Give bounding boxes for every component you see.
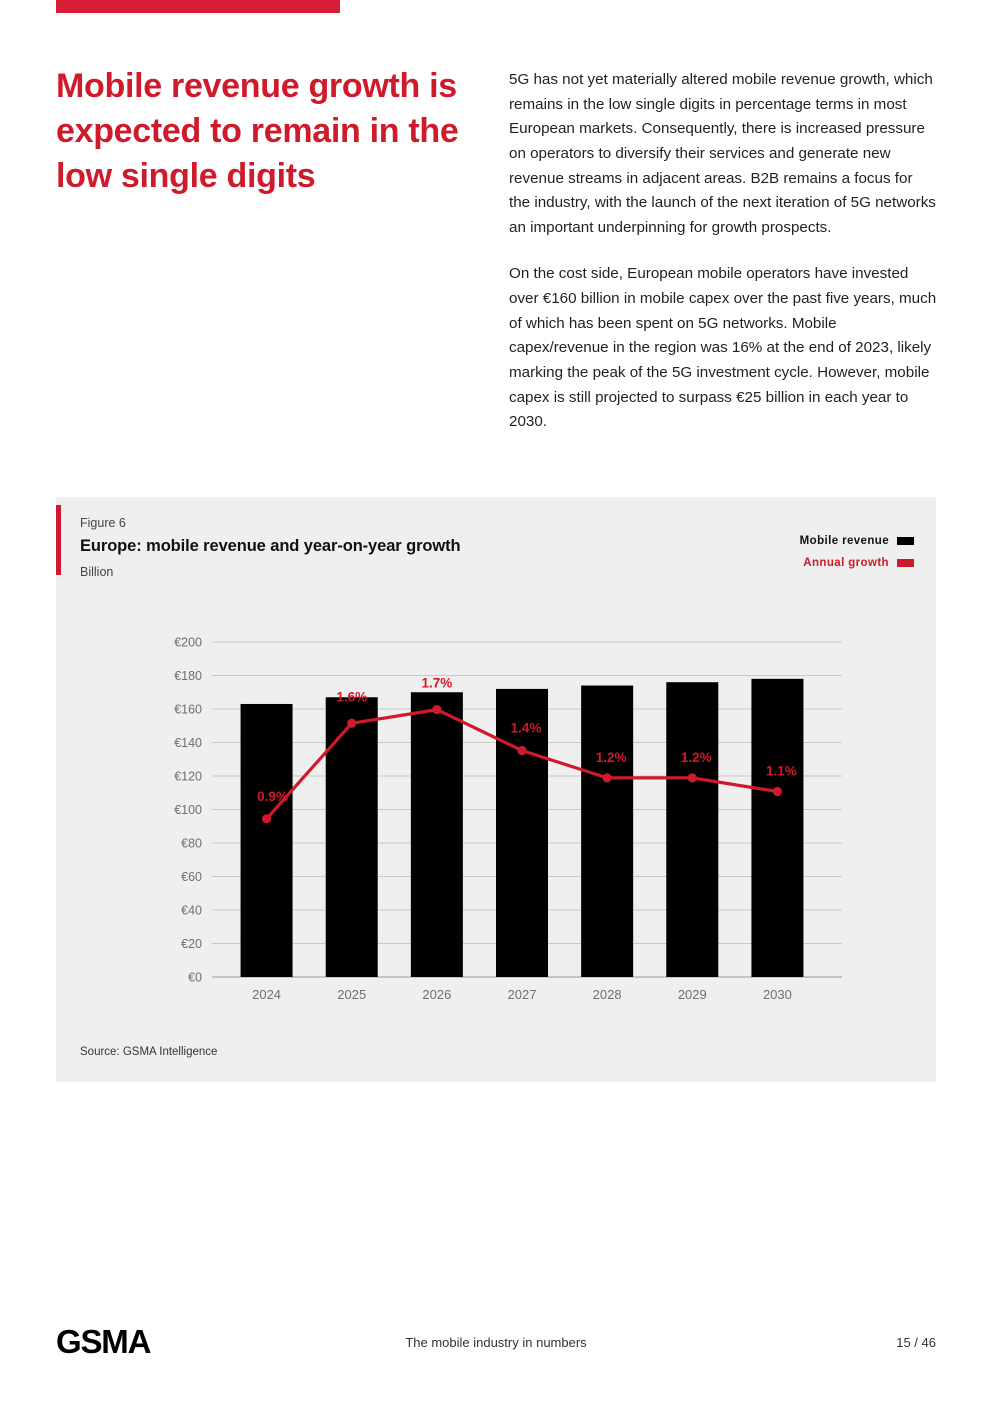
svg-text:2024: 2024 [252,987,281,1002]
svg-text:€20: €20 [181,937,202,951]
svg-text:2030: 2030 [763,987,792,1002]
body-paragraph-1: 5G has not yet materially altered mobile… [509,68,937,240]
svg-text:€0: €0 [188,971,202,985]
svg-text:1.2%: 1.2% [596,750,627,765]
svg-text:2029: 2029 [678,987,707,1002]
svg-text:1.6%: 1.6% [336,689,367,704]
svg-text:€160: €160 [174,703,202,717]
page-footer: GSMA The mobile industry in numbers 15 /… [0,1323,992,1363]
svg-text:2026: 2026 [422,987,451,1002]
footer-page-number: 15 / 46 [896,1335,936,1350]
top-accent-rule [56,0,340,13]
svg-text:1.1%: 1.1% [766,764,797,779]
figure-source-note: Source: GSMA Intelligence [80,1046,217,1058]
svg-text:1.2%: 1.2% [681,750,712,765]
body-paragraph-2: On the cost side, European mobile operat… [509,262,937,434]
svg-text:€80: €80 [181,837,202,851]
body-text-column: 5G has not yet materially altered mobile… [509,68,937,457]
page-headline: Mobile revenue growth is expected to rem… [56,64,476,200]
svg-text:€100: €100 [174,803,202,817]
svg-text:€140: €140 [174,736,202,750]
svg-text:€120: €120 [174,770,202,784]
figure-panel: Figure 6 Europe: mobile revenue and year… [56,497,936,1082]
svg-text:1.4%: 1.4% [511,721,542,736]
combo-bar-line-chart: €0€20€40€60€80€100€120€140€160€180€20020… [56,497,936,1082]
svg-text:€40: €40 [181,904,202,918]
footer-title: The mobile industry in numbers [0,1335,992,1350]
svg-text:€180: €180 [174,669,202,683]
svg-text:2027: 2027 [508,987,537,1002]
svg-text:€60: €60 [181,870,202,884]
svg-text:2025: 2025 [337,987,366,1002]
svg-text:1.7%: 1.7% [421,676,452,691]
svg-text:2028: 2028 [593,987,622,1002]
svg-text:0.9%: 0.9% [257,789,288,804]
svg-text:€200: €200 [174,636,202,650]
